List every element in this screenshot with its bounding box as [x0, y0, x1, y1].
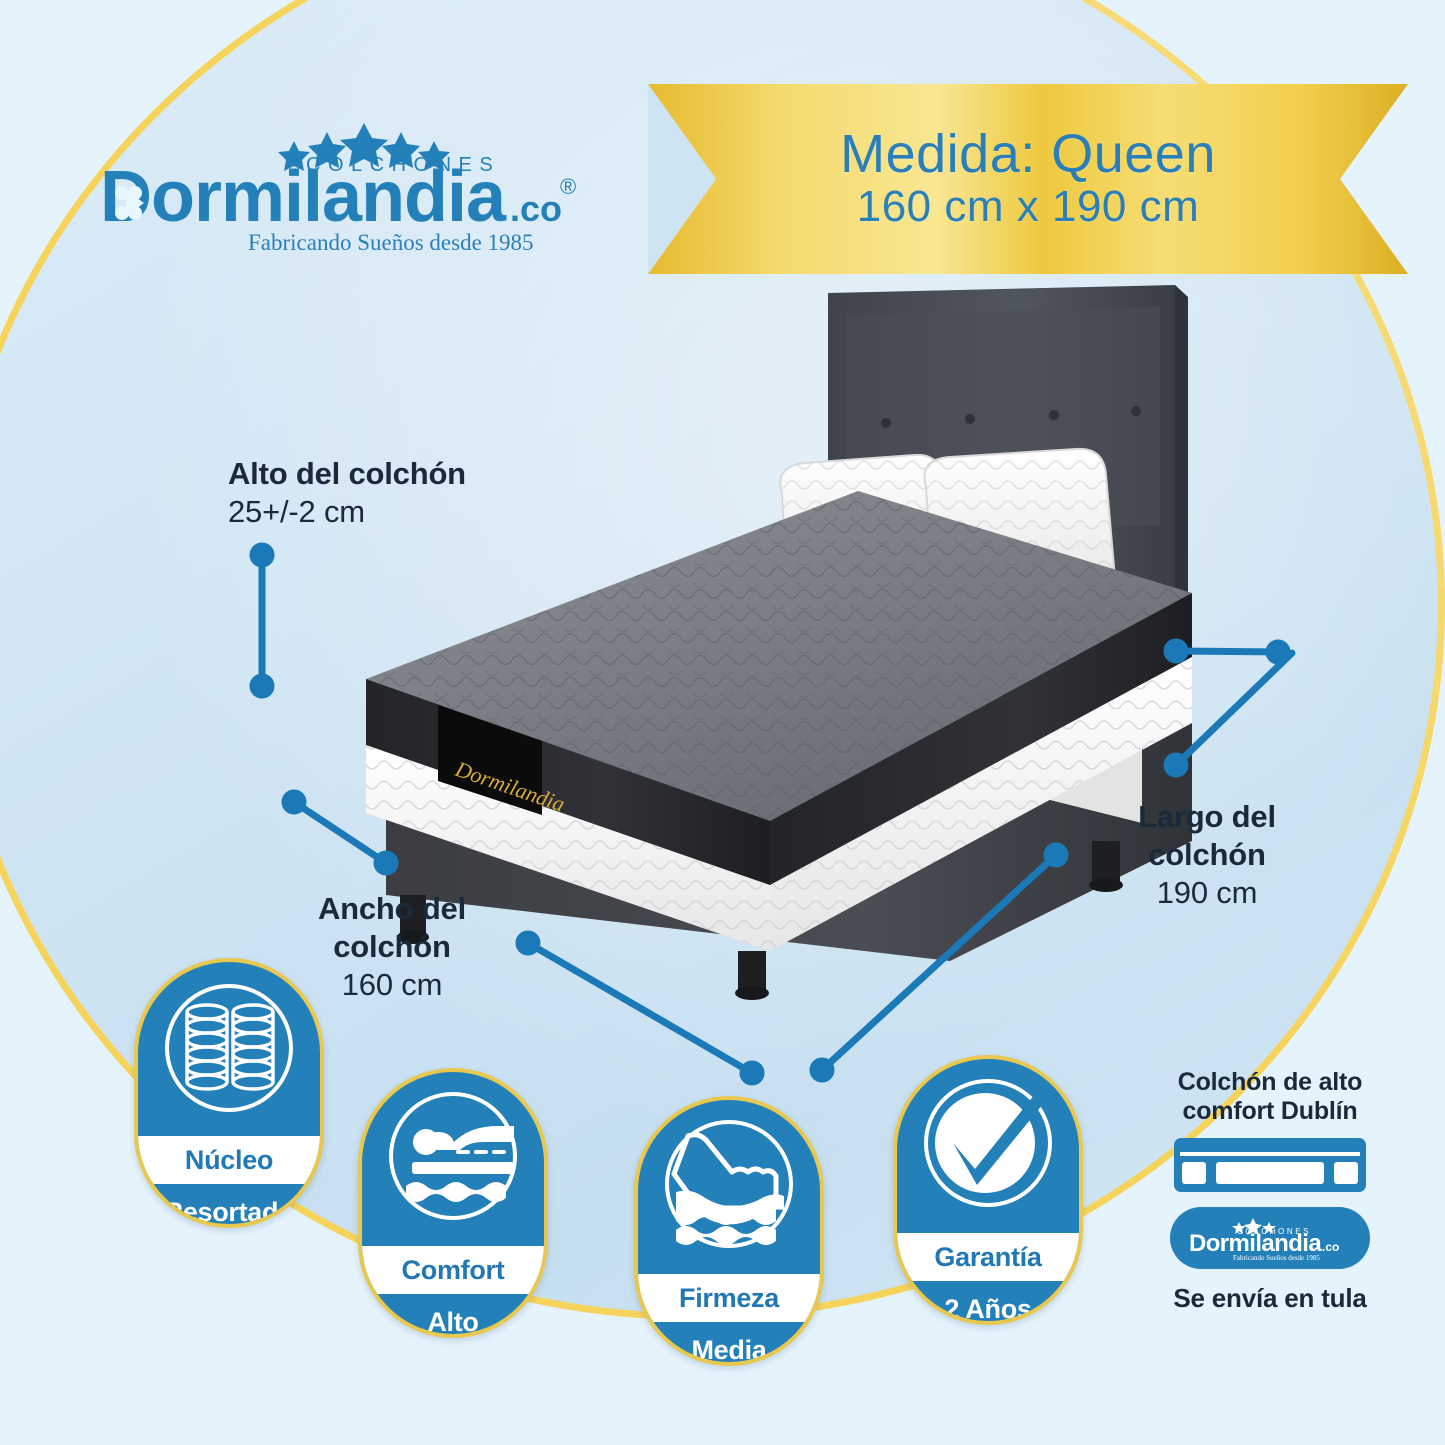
shipping-info: Colchón de alto comfort Dublín COLCHONES…: [1125, 1068, 1415, 1314]
feature-title-firmeza: Firmeza: [638, 1274, 820, 1322]
callout-largo-value: 190 cm: [1082, 874, 1332, 912]
mattress-icon: [1172, 1136, 1368, 1194]
hand-press-icon: [638, 1106, 820, 1272]
brand-logo-small: COLCHONES Dormilandia .co Fabricando Sue…: [1170, 1207, 1370, 1269]
checkmark-icon: [897, 1065, 1079, 1231]
feature-value-firmeza: Media: [638, 1322, 820, 1366]
feature-title-comfort: Comfort: [362, 1246, 544, 1294]
shipping-footer: Se envía en tula: [1125, 1283, 1415, 1314]
feature-value-nucleo: Resortado: [138, 1184, 320, 1228]
shipping-title-line1: Colchón de alto: [1125, 1068, 1415, 1097]
callout-alto: Alto del colchón 25+/-2 cm: [228, 455, 466, 531]
feature-badge-garantia: Garantía 2 Años: [893, 1055, 1083, 1325]
feature-title-nucleo: Núcleo: [138, 1136, 320, 1184]
springs-icon: [138, 968, 320, 1134]
callout-alto-value: 25+/-2 cm: [228, 493, 466, 531]
shipping-title-line2: comfort Dublín: [1125, 1097, 1415, 1126]
feature-badge-comfort: Comfort Alto: [358, 1068, 548, 1338]
callout-alto-label: Alto del colchón: [228, 455, 466, 493]
svg-text:Fabricando Sueños desde 1985: Fabricando Sueños desde 1985: [1233, 1254, 1320, 1262]
callout-largo: Largo del colchón 190 cm: [1082, 798, 1332, 911]
callout-ancho-label: Ancho del colchón: [264, 890, 520, 966]
feature-badge-firmeza: Firmeza Media: [634, 1096, 824, 1366]
feature-badge-nucleo: Núcleo Resortado: [134, 958, 324, 1228]
svg-text:Dormilandia: Dormilandia: [1189, 1230, 1322, 1257]
infographic-canvas: COLCHONES Dormilandia .co ® Fabricando S…: [0, 0, 1445, 1445]
callout-largo-label: Largo del colchón: [1082, 798, 1332, 874]
feature-title-garantia: Garantía: [897, 1233, 1079, 1281]
feature-value-garantia: 2 Años: [897, 1281, 1079, 1325]
feature-value-comfort: Alto: [362, 1294, 544, 1338]
svg-text:.co: .co: [1322, 1240, 1339, 1254]
sleeper-icon: [362, 1078, 544, 1244]
